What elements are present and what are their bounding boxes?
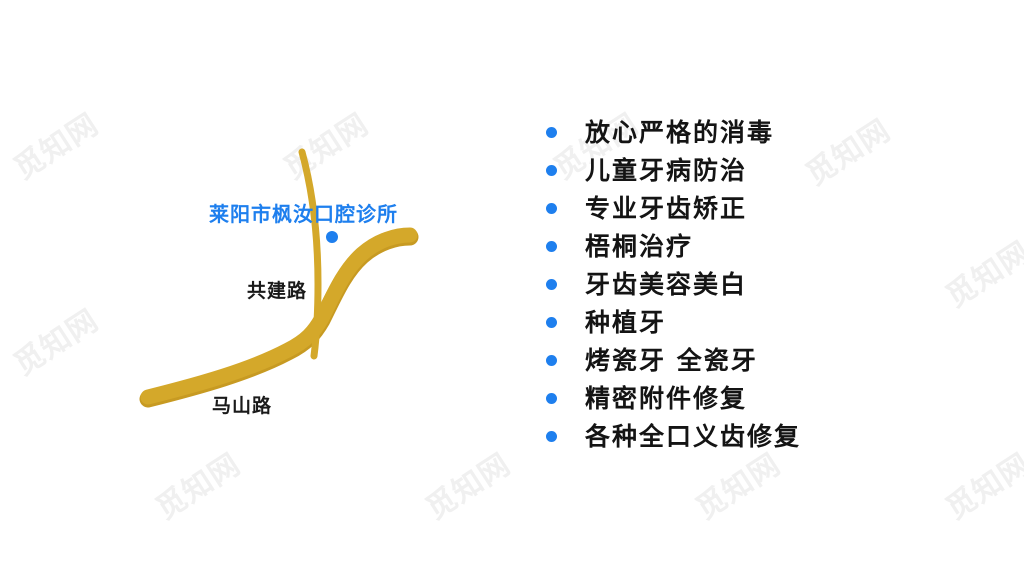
service-label: 梧桐治疗 [585,234,693,259]
bullet-icon [546,203,557,214]
bullet-icon [546,165,557,176]
road-label-gongjian: 共建路 [247,276,307,303]
list-item: 儿童牙病防治 [546,151,801,189]
service-label: 种植牙 [585,310,666,335]
service-label: 牙齿美容美白 [585,272,747,297]
bullet-icon [546,431,557,442]
service-label: 专业牙齿矫正 [585,196,747,221]
bullet-icon [546,317,557,328]
list-item: 专业牙齿矫正 [546,189,801,227]
clinic-marker-dot[interactable] [326,231,338,243]
list-item: 放心严格的消毒 [546,113,801,151]
bullet-icon [546,241,557,252]
road-mashan-path [148,237,410,399]
service-label: 放心严格的消毒 [585,120,774,145]
map-graphic [0,0,1024,571]
services-list: 放心严格的消毒 儿童牙病防治 专业牙齿矫正 梧桐治疗 牙齿美容美白 种植牙 烤瓷… [546,113,801,455]
clinic-name-label: 莱阳市枫汝口腔诊所 [209,198,398,227]
location-map: 莱阳市枫汝口腔诊所 共建路 马山路 [0,0,1024,571]
list-item: 梧桐治疗 [546,227,801,265]
service-label: 精密附件修复 [585,386,747,411]
list-item: 精密附件修复 [546,379,801,417]
bullet-icon [546,355,557,366]
list-item: 烤瓷牙 全瓷牙 [546,341,801,379]
service-label: 烤瓷牙 全瓷牙 [585,348,758,373]
service-label: 各种全口义齿修复 [585,424,801,449]
service-label: 儿童牙病防治 [585,158,747,183]
bullet-icon [546,127,557,138]
bullet-icon [546,279,557,290]
bullet-icon [546,393,557,404]
list-item: 各种全口义齿修复 [546,417,801,455]
poster-canvas: 觅知网 觅知网 觅知网 觅知网 觅知网 觅知网 觅知网 觅知网 觅知网 觅知网 … [0,0,1024,571]
list-item: 种植牙 [546,303,801,341]
list-item: 牙齿美容美白 [546,265,801,303]
road-label-mashan: 马山路 [212,391,272,418]
